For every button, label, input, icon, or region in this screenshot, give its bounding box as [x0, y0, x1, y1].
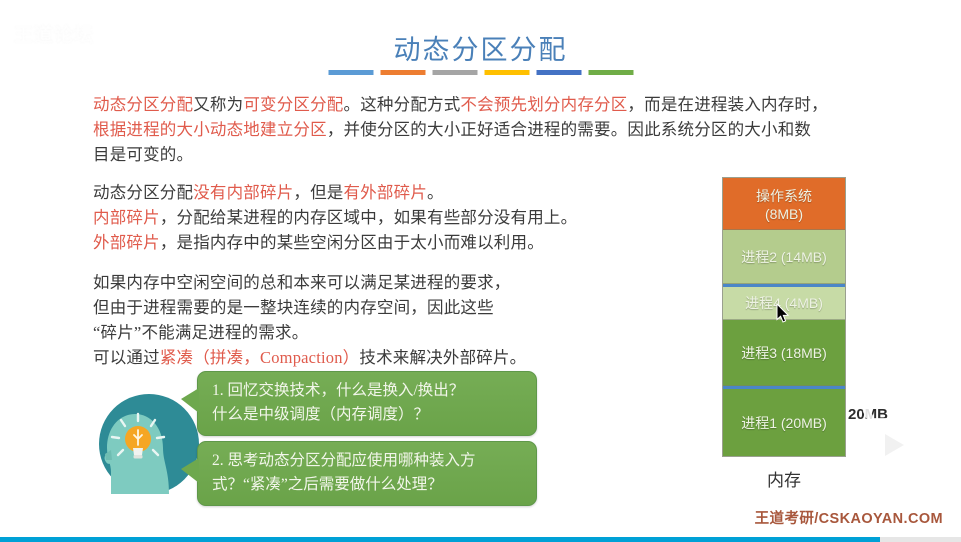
- memory-block-label: 操作系统: [756, 186, 812, 206]
- text-run: 紧凑（拼凑，Compaction）: [160, 348, 360, 367]
- text-run: 技术来解决外部碎片。: [359, 348, 526, 367]
- memory-block-label: 进程2 (14MB): [741, 247, 827, 267]
- paragraph-fragmentation: 动态分区分配没有内部碎片，但是有外部碎片。 内部碎片，分配给某进程的内存区域中，…: [93, 180, 713, 255]
- title-bar-4: [536, 70, 581, 75]
- text-run: 。: [427, 183, 444, 202]
- memory-block-0: 操作系统(8MB): [723, 178, 845, 230]
- title-bar-1: [380, 70, 425, 75]
- memory-block-1: 进程2 (14MB): [723, 230, 845, 284]
- memory-diagram-caption: 内存: [722, 466, 846, 491]
- memory-block-3: 进程3 (18MB): [723, 320, 845, 386]
- text-run: 动态分区分配: [93, 183, 193, 202]
- memory-block-2: 进程4 (4MB): [723, 284, 845, 320]
- title-bar-5: [588, 70, 633, 75]
- page-title: 动态分区分配: [0, 28, 961, 67]
- question-bubble-2: 2. 思考动态分区分配应使用哪种装入方 式？“紧凑”之后需要做什么处理？: [197, 441, 537, 506]
- memory-diagram: 操作系统(8MB)进程2 (14MB)进程4 (4MB)进程3 (18MB)进程…: [722, 177, 846, 457]
- title-bar-2: [432, 70, 477, 75]
- title-underline-bars: [328, 70, 633, 75]
- text-run: 没有内部碎片: [193, 183, 293, 202]
- paragraph-definition: 动态分区分配又称为可变分区分配。这种分配方式不会预先划分内存分区，而是在进程装入…: [93, 92, 883, 167]
- memory-block-label: 进程3 (18MB): [741, 343, 827, 363]
- title-bar-3: [484, 70, 529, 75]
- site-watermark: 王道考研/CSKAOYAN.COM: [755, 507, 943, 528]
- slide-canvas: 王道论坛 bilibili 动态分区分配 动态分区分配又称为可变分区分配。这种分…: [0, 0, 961, 542]
- memory-block-label: 进程1 (20MB): [741, 413, 827, 433]
- text-run: 外部碎片: [93, 233, 160, 252]
- text-run: ，是指内存中的某些空闲分区由于太小而难以利用。: [160, 233, 544, 252]
- text-run: 动态分区分配: [93, 95, 193, 114]
- text-run: 。这种分配方式: [344, 95, 461, 114]
- memory-block-4: 进程1 (20MB): [723, 386, 845, 456]
- question-bubble-1: 1. 回忆交换技术，什么是换入/换出？ 什么是中级调度（内存调度）？: [197, 371, 537, 436]
- text-run: ，分配给某进程的内存区域中，如果有些部分没有用上。: [160, 208, 578, 227]
- video-progress-fill: [0, 537, 880, 542]
- text-run: 有外部碎片: [344, 183, 428, 202]
- text-run: ，而是在进程装入内存时，: [627, 95, 827, 114]
- video-progress-track[interactable]: [0, 537, 961, 542]
- title-bar-0: [328, 70, 373, 75]
- memory-size-annotation: 20MB: [848, 406, 888, 423]
- text-run: 不会预先划分内存分区: [460, 95, 627, 114]
- paragraph-compaction: 如果内存中空闲空间的总和本来可以满足某进程的要求， 但由于进程需要的是一整块连续…: [93, 270, 713, 370]
- memory-block-size: (8MB): [765, 206, 803, 222]
- text-run: 根据进程的大小动态地建立分区: [93, 120, 327, 139]
- memory-block-label: 进程4 (4MB): [745, 293, 823, 313]
- text-run: 内部碎片: [93, 208, 160, 227]
- text-run: 又称为: [193, 95, 243, 114]
- text-run: ，但是: [293, 183, 343, 202]
- text-run: 可变分区分配: [243, 95, 343, 114]
